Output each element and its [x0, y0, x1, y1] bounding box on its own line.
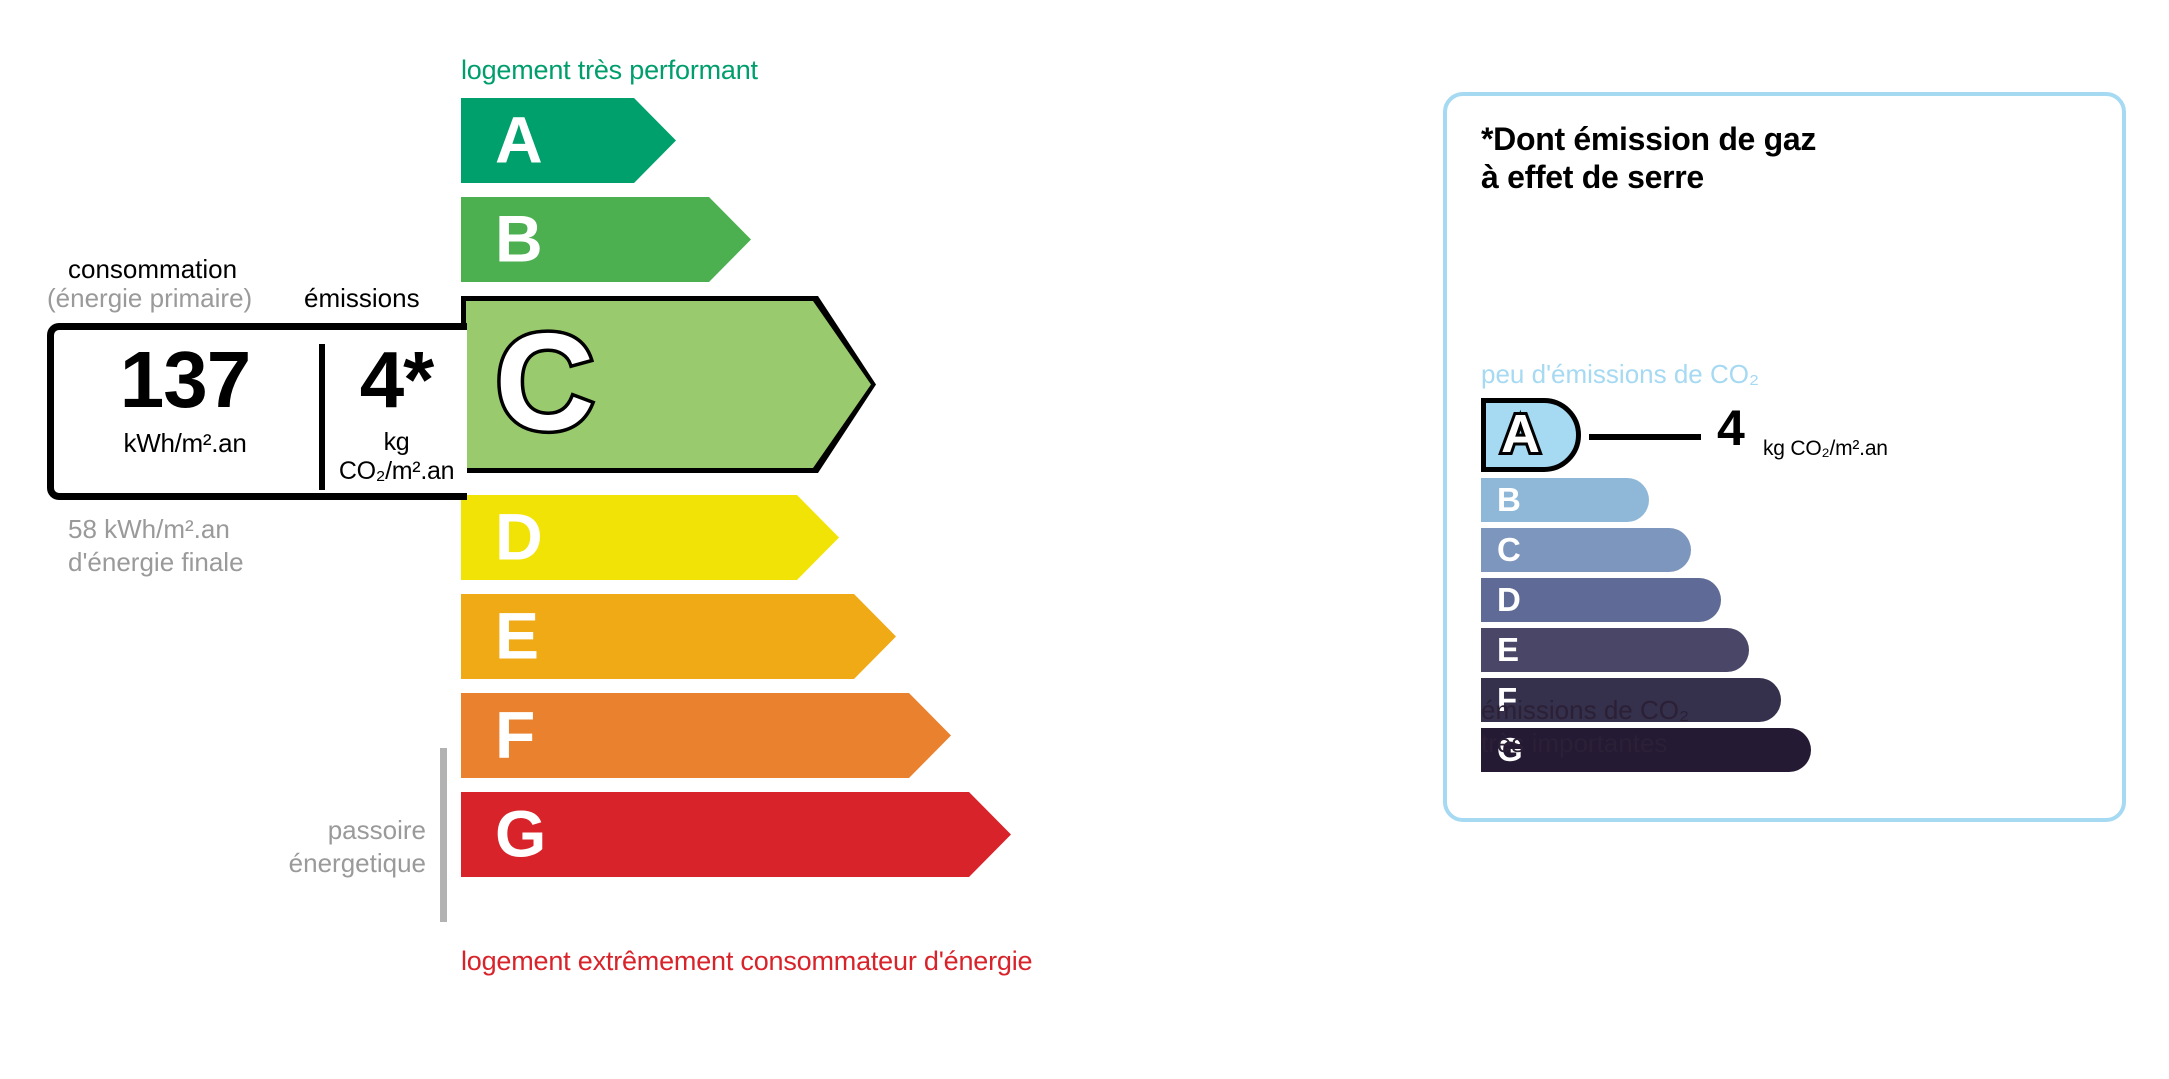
emission-value-cell: 4* kg CO₂/m².an: [326, 342, 467, 486]
co2-foot-caption-line1: émissions de CO₂: [1481, 694, 1689, 727]
final-energy-value: 58 kWh/m².an: [68, 513, 244, 546]
energy-band-a[interactable]: A: [461, 98, 1261, 183]
co2-band-e-bar: [1481, 628, 1749, 672]
co2-unit: kg CO₂/m².an: [1763, 437, 1888, 461]
energy-band-d-letter: D: [495, 503, 543, 569]
bottom-caption: logement extrêmement consommateur d'éner…: [461, 946, 1032, 977]
energy-band-c-selected[interactable]: C: [461, 296, 1261, 473]
energy-band-e[interactable]: E: [461, 594, 1261, 679]
energy-band-g[interactable]: G: [461, 792, 1261, 877]
energy-band-g-letter: G: [495, 800, 546, 866]
emissions-header: émissions: [304, 283, 420, 314]
passoire-bracket: [440, 748, 447, 922]
energy-band-d[interactable]: D: [461, 495, 1261, 580]
consumption-header: consommation: [68, 254, 237, 285]
co2-band-c-letter: C: [1497, 533, 1521, 566]
co2-title-line2: à effet de serre: [1481, 159, 1816, 197]
emission-value: 4*: [326, 342, 467, 418]
final-energy-label: d'énergie finale: [68, 546, 244, 579]
consumption-unit: kWh/m².an: [54, 428, 316, 459]
co2-band-d-letter: D: [1497, 583, 1521, 616]
co2-leader-line: [1589, 434, 1701, 440]
consumption-value-cell: 137 kWh/m².an: [54, 342, 316, 459]
energy-band-a-letter: A: [495, 106, 543, 172]
energy-band-ladder: A B C D E F G: [461, 98, 1261, 891]
final-energy-note: 58 kWh/m².an d'énergie finale: [68, 513, 244, 579]
co2-title-line1: *Dont émission de gaz: [1481, 121, 1816, 159]
co2-value: 4: [1717, 403, 1745, 453]
energy-performance-diagram: logement très performant A B C D E F: [0, 0, 1380, 1079]
reading-box: 137 kWh/m².an 4* kg CO₂/m².an: [47, 323, 467, 500]
energy-band-b[interactable]: B: [461, 197, 1261, 282]
co2-top-caption: peu d'émissions de CO₂: [1481, 359, 1759, 390]
co2-band-b[interactable]: B: [1481, 478, 2101, 522]
co2-band-a-selected[interactable]: A 4 kg CO₂/m².an: [1481, 398, 2101, 472]
co2-foot-caption-line2: très importantes: [1481, 727, 1689, 760]
co2-panel-title: *Dont émission de gaz à effet de serre: [1481, 121, 1816, 197]
co2-band-e[interactable]: E: [1481, 628, 2101, 672]
consumption-subheader: (énergie primaire): [47, 283, 252, 314]
co2-band-e-letter: E: [1497, 633, 1519, 666]
passoire-label: passoire énergetique: [266, 814, 426, 880]
co2-panel: *Dont émission de gaz à effet de serre p…: [1443, 92, 2126, 822]
energy-band-c-letter: C: [495, 313, 595, 451]
energy-band-e-letter: E: [495, 602, 539, 668]
co2-band-b-letter: B: [1497, 483, 1521, 516]
co2-band-d[interactable]: D: [1481, 578, 2101, 622]
energy-band-a-arrow: [461, 98, 676, 183]
co2-band-a-letter: A: [1501, 407, 1540, 461]
energy-band-b-letter: B: [495, 205, 543, 271]
emission-unit: kg CO₂/m².an: [326, 428, 467, 486]
consumption-value: 137: [54, 342, 316, 418]
energy-band-f[interactable]: F: [461, 693, 1261, 778]
co2-foot-caption: émissions de CO₂ très importantes: [1481, 694, 1689, 760]
energy-band-f-letter: F: [495, 701, 535, 767]
co2-band-c[interactable]: C: [1481, 528, 2101, 572]
passoire-label-line1: passoire: [266, 814, 426, 847]
passoire-label-line2: énergetique: [266, 847, 426, 880]
reading-box-divider: [319, 344, 325, 490]
top-caption: logement très performant: [461, 55, 758, 86]
